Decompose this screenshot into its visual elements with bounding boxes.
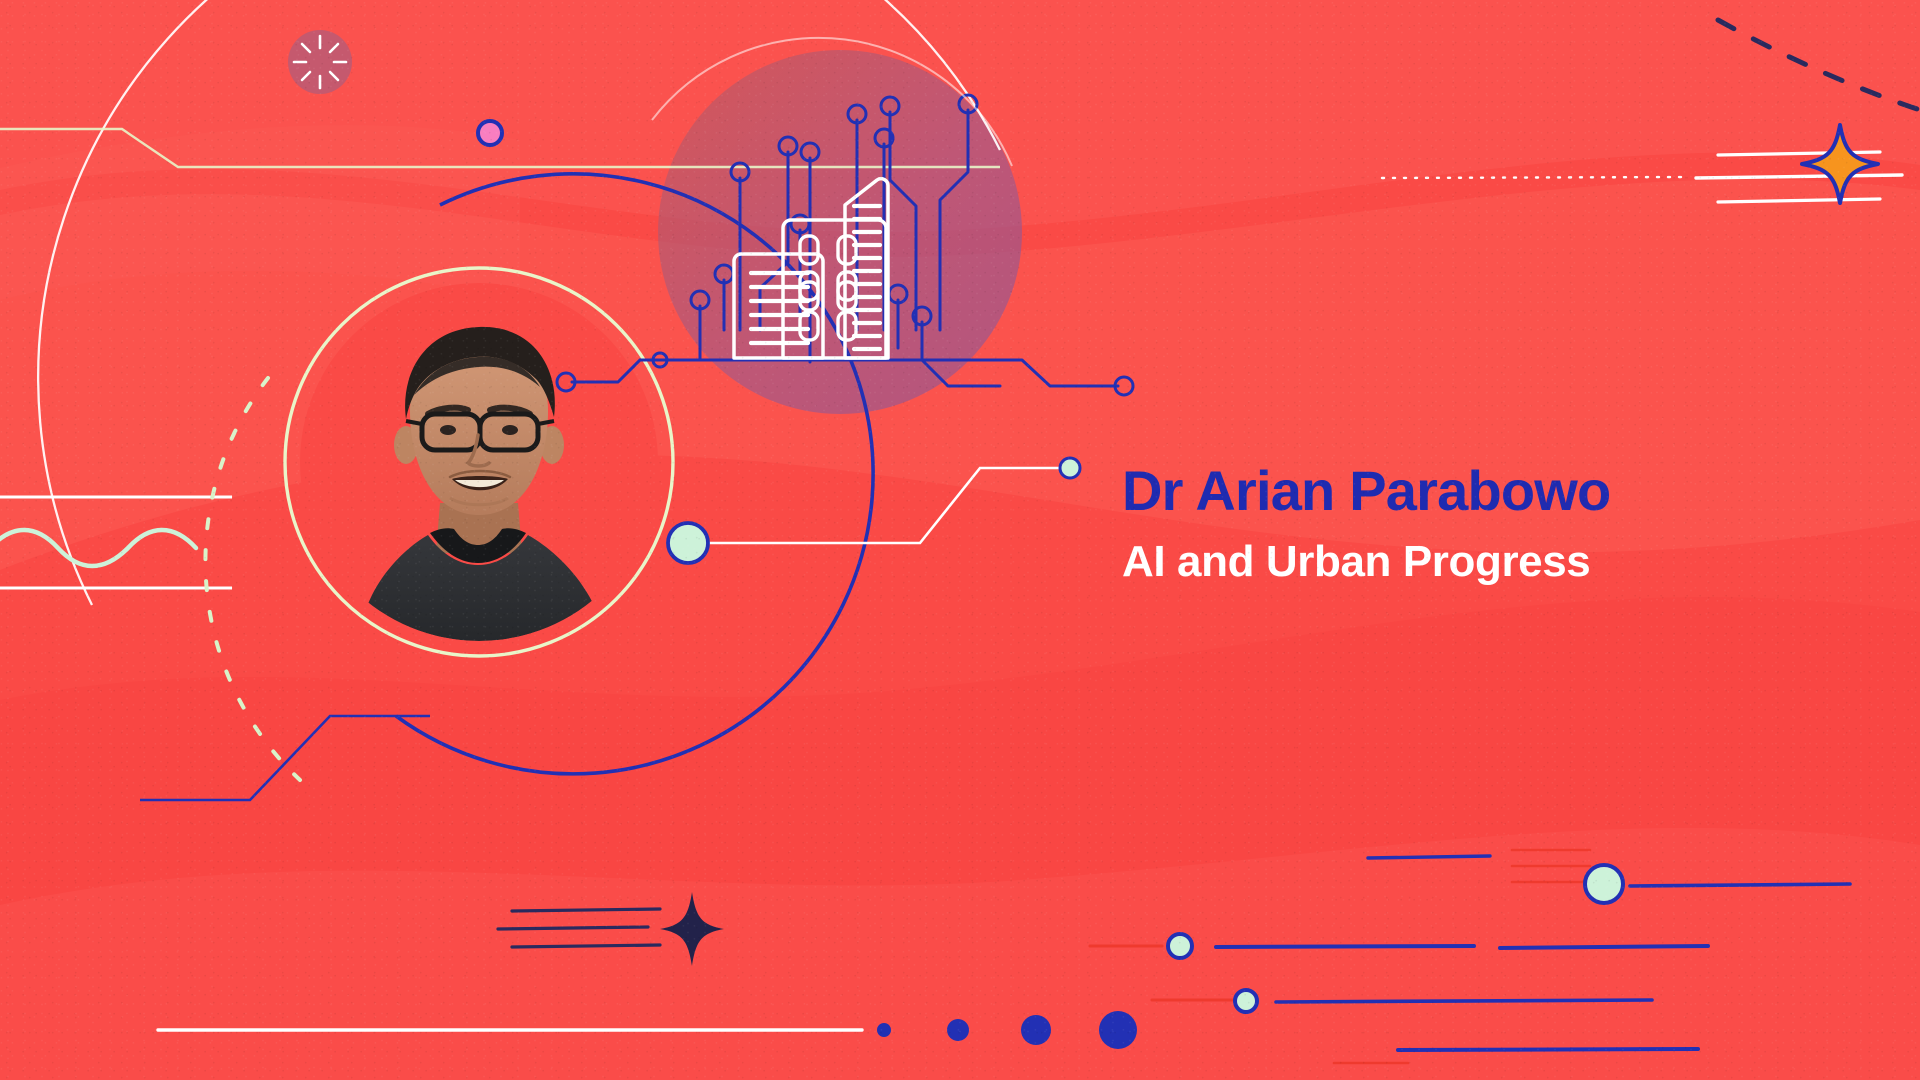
portrait-illustration (300, 283, 658, 641)
speaker-name: Dr Arian Parabowo (1122, 462, 1822, 521)
purple-halo (658, 50, 1022, 414)
speaker-banner: Dr Arian Parabowo AI and Urban Progress (0, 0, 1920, 1080)
speaker-topic: AI and Urban Progress (1122, 539, 1822, 585)
speaker-text-block: Dr Arian Parabowo AI and Urban Progress (1122, 462, 1822, 585)
speaker-portrait (300, 283, 658, 641)
